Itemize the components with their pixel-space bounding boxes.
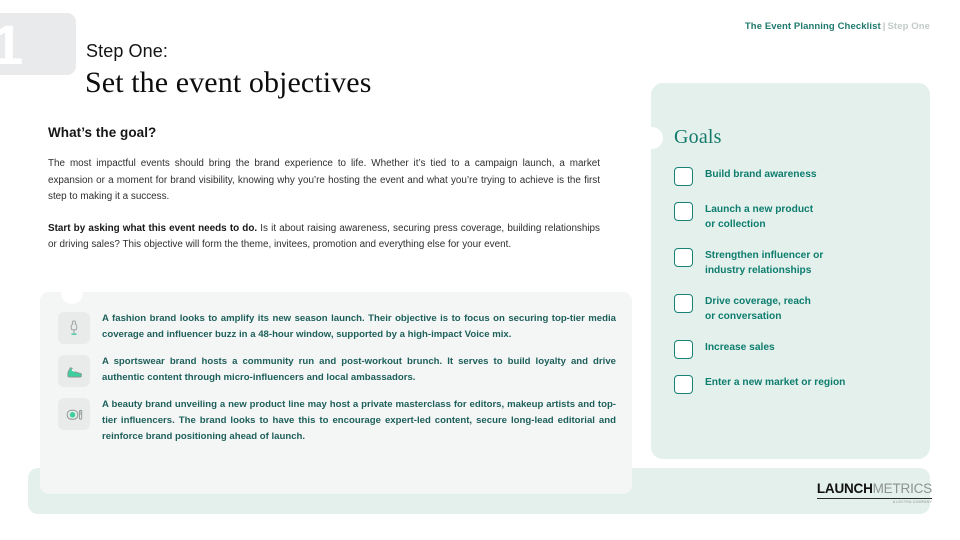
goal-list-item[interactable]: Increase sales — [674, 339, 914, 359]
breadcrumb-current: Step One — [887, 21, 930, 32]
body-paragraph-1: The most impactful events should bring t… — [48, 156, 600, 206]
goal-label: Enter a new market or region — [705, 374, 845, 391]
goal-list-item[interactable]: Strengthen influencer or industry relati… — [674, 247, 914, 278]
goals-list: Build brand awareness Launch a new produ… — [674, 166, 914, 409]
step-eyebrow: Step One: — [86, 41, 168, 62]
logo-tagline: A Lectra company — [817, 500, 932, 505]
goal-label: Build brand awareness — [705, 166, 817, 183]
goal-list-item[interactable]: Build brand awareness — [674, 166, 914, 186]
goal-checkbox[interactable] — [674, 340, 693, 359]
breadcrumb-separator: | — [883, 21, 886, 32]
example-text: A sportswear brand hosts a community run… — [102, 353, 616, 386]
goals-title: Goals — [674, 126, 722, 149]
body-paragraph-2-lead: Start by asking what this event needs to… — [48, 223, 257, 234]
makeup-compact-icon — [58, 398, 90, 430]
goal-checkbox[interactable] — [674, 202, 693, 221]
goal-checkbox[interactable] — [674, 294, 693, 313]
example-item: A fashion brand looks to amplify its new… — [40, 310, 632, 344]
body-column: What’s the goal? The most impactful even… — [48, 125, 600, 254]
slide-root: 01 The Event Planning Checklist|Step One… — [0, 0, 960, 540]
goals-panel: Goals Build brand awareness Launch a new… — [651, 83, 930, 459]
breadcrumb: The Event Planning Checklist|Step One — [745, 21, 930, 32]
goal-list-item[interactable]: Enter a new market or region — [674, 374, 914, 394]
example-text: A fashion brand looks to amplify its new… — [102, 310, 616, 343]
goals-panel-notch — [650, 127, 663, 149]
section-subhead: What’s the goal? — [48, 125, 600, 140]
goal-label: Drive coverage, reach or conversation — [705, 293, 811, 324]
example-text: A beauty brand unveiling a new product l… — [102, 396, 616, 446]
logo-part-launch: LAUNCH — [817, 481, 873, 496]
goal-checkbox[interactable] — [674, 167, 693, 186]
body-paragraph-2: Start by asking what this event needs to… — [48, 221, 600, 254]
goal-list-item[interactable]: Launch a new product or collection — [674, 201, 914, 232]
logo-wordmark: LAUNCHMETRICS — [817, 482, 932, 496]
example-item: A sportswear brand hosts a community run… — [40, 353, 632, 387]
logo-rule — [817, 498, 932, 499]
goal-label: Launch a new product or collection — [705, 201, 813, 232]
step-number-badge — [0, 13, 76, 75]
launchmetrics-logo: LAUNCHMETRICS A Lectra company — [817, 482, 932, 505]
examples-card: A fashion brand looks to amplify its new… — [40, 292, 632, 494]
mannequin-icon — [58, 312, 90, 344]
goal-checkbox[interactable] — [674, 375, 693, 394]
breadcrumb-main: The Event Planning Checklist — [745, 21, 881, 32]
examples-card-notch — [61, 291, 83, 304]
goal-checkbox[interactable] — [674, 248, 693, 267]
goal-label: Strengthen influencer or industry relati… — [705, 247, 823, 278]
logo-part-metrics: METRICS — [873, 481, 932, 496]
sneaker-icon — [58, 355, 90, 387]
page-title: Set the event objectives — [85, 66, 371, 100]
goal-list-item[interactable]: Drive coverage, reach or conversation — [674, 293, 914, 324]
example-item: A beauty brand unveiling a new product l… — [40, 396, 632, 446]
goal-label: Increase sales — [705, 339, 775, 356]
